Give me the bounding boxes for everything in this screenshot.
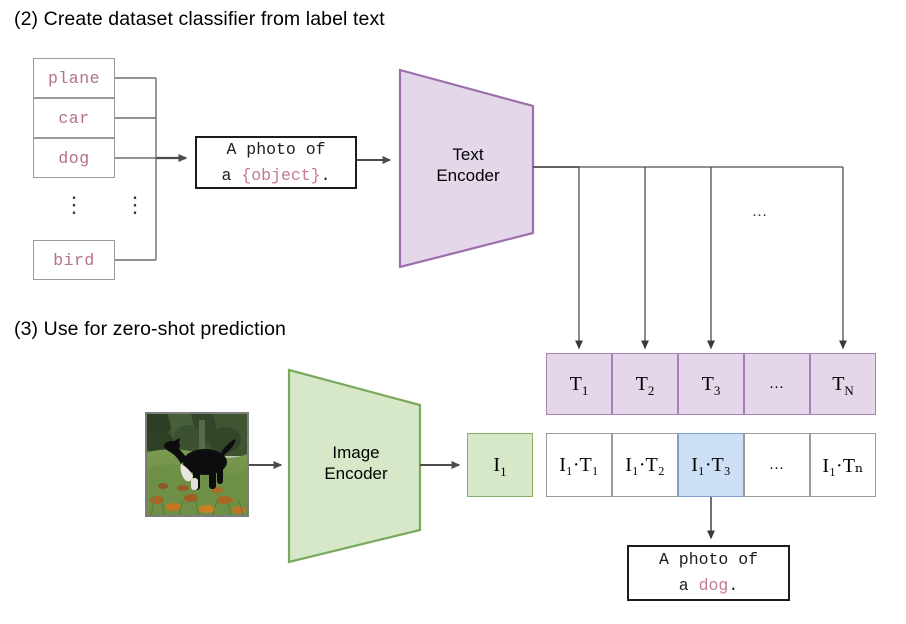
input-image-thumbnail[interactable]: [145, 412, 249, 517]
section-3-title: (3) Use for zero-shot prediction: [14, 318, 286, 341]
dog-photo-illustration: [147, 414, 247, 515]
label-bus-lines: [115, 78, 156, 260]
label-text: dog: [58, 149, 89, 168]
label-text: bird: [53, 251, 95, 270]
prompt-line-1: A photo of: [226, 137, 325, 163]
prediction-slot: dog: [699, 576, 729, 595]
label-box-dog[interactable]: dog: [33, 138, 115, 178]
text-embedding-cell-ellipsis: …: [744, 353, 810, 415]
label-stack-ellipsis: ⋮: [33, 200, 115, 211]
prompt-prefix: a: [222, 166, 242, 185]
cell-label: …: [769, 376, 785, 393]
cell-label: I₁·T₂: [625, 454, 664, 477]
prompt-slot: {object}: [241, 166, 320, 185]
text-embedding-cell-3[interactable]: T3: [678, 353, 744, 415]
similarity-cell-3-selected[interactable]: I₁·T₃: [678, 433, 744, 497]
cell-label: I₁·Tₙ: [822, 453, 863, 478]
text-encoder-polygon: [400, 70, 533, 267]
prompt-suffix: .: [321, 166, 331, 185]
label-box-plane[interactable]: plane: [33, 58, 115, 98]
connector-ellipsis: ⋮: [110, 200, 160, 211]
similarity-cell-ellipsis: …: [744, 433, 810, 497]
text-embedding-fanout-arrows: [579, 167, 843, 348]
prediction-line-2: a dog.: [679, 573, 738, 599]
image-embedding-label: I1: [493, 454, 506, 477]
prediction-suffix: .: [728, 576, 738, 595]
image-encoder-shape[interactable]: [287, 366, 425, 566]
cell-label: I₁·T₃: [691, 454, 730, 477]
label-box-bird[interactable]: bird: [33, 240, 115, 280]
text-embedding-cell-n[interactable]: TN: [810, 353, 876, 415]
image-embedding-cell[interactable]: I1: [467, 433, 533, 497]
text-embedding-cell-1[interactable]: T1: [546, 353, 612, 415]
cell-label: T1: [570, 373, 589, 396]
similarity-cell-2[interactable]: I₁·T₂: [612, 433, 678, 497]
prompt-template-box[interactable]: A photo of a {object}.: [195, 136, 357, 189]
fanout-ellipsis: …: [740, 203, 780, 221]
prediction-prefix: a: [679, 576, 699, 595]
similarity-cell-1[interactable]: I₁·T₁: [546, 433, 612, 497]
section-2-title: (2) Create dataset classifier from label…: [14, 8, 385, 31]
text-encoder-shape[interactable]: [398, 66, 538, 270]
figure-canvas: (2) Create dataset classifier from label…: [0, 0, 906, 624]
image-encoder-polygon: [289, 370, 420, 562]
cell-label: …: [769, 457, 785, 474]
label-box-car[interactable]: car: [33, 98, 115, 138]
cell-label: TN: [832, 373, 854, 396]
label-text: car: [58, 109, 89, 128]
text-embedding-cell-2[interactable]: T2: [612, 353, 678, 415]
prediction-line-1: A photo of: [659, 547, 758, 573]
cell-label: T3: [702, 373, 721, 396]
label-text: plane: [48, 69, 100, 88]
cell-label: T2: [636, 373, 655, 396]
similarity-cell-n[interactable]: I₁·Tₙ: [810, 433, 876, 497]
cell-label: I₁·T₁: [559, 454, 598, 477]
prompt-line-2: a {object}.: [222, 163, 331, 189]
prediction-output-box[interactable]: A photo of a dog.: [627, 545, 790, 601]
